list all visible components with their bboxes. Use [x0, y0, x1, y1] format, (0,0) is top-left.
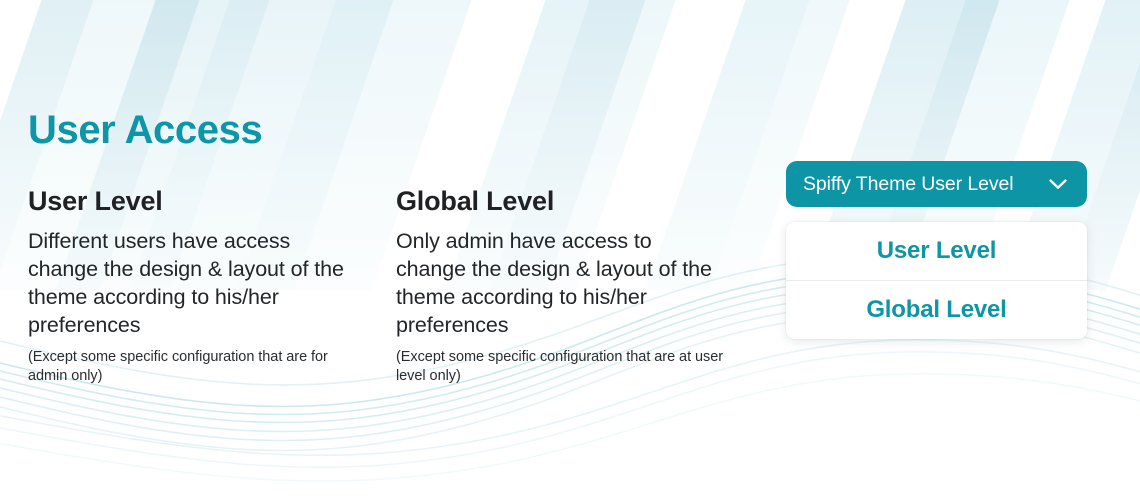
dropdown-option-user-level[interactable]: User Level: [786, 222, 1087, 280]
dropdown-selected-label: Spiffy Theme User Level: [803, 173, 1014, 195]
dropdown-toggle-button[interactable]: Spiffy Theme User Level: [786, 161, 1087, 207]
dropdown-options-list: User Level Global Level: [786, 222, 1087, 339]
column-body-text: Only admin have access to change the des…: [396, 227, 726, 339]
slide-content: User Access User Level Different users h…: [0, 0, 1140, 500]
column-note-text: (Except some specific configuration that…: [396, 348, 726, 386]
column-heading: Global Level: [396, 184, 726, 218]
column-body-text: Different users have access change the d…: [28, 227, 358, 339]
info-column-user-level: User Level Different users have access c…: [28, 184, 358, 386]
page-title: User Access: [28, 106, 262, 154]
info-column-global-level: Global Level Only admin have access to c…: [396, 184, 726, 386]
dropdown-option-global-level[interactable]: Global Level: [786, 280, 1087, 339]
user-level-dropdown[interactable]: Spiffy Theme User Level User Level Globa…: [786, 161, 1087, 339]
chevron-down-icon[interactable]: [1047, 173, 1069, 195]
column-heading: User Level: [28, 184, 358, 218]
column-note-text: (Except some specific configuration that…: [28, 348, 358, 386]
